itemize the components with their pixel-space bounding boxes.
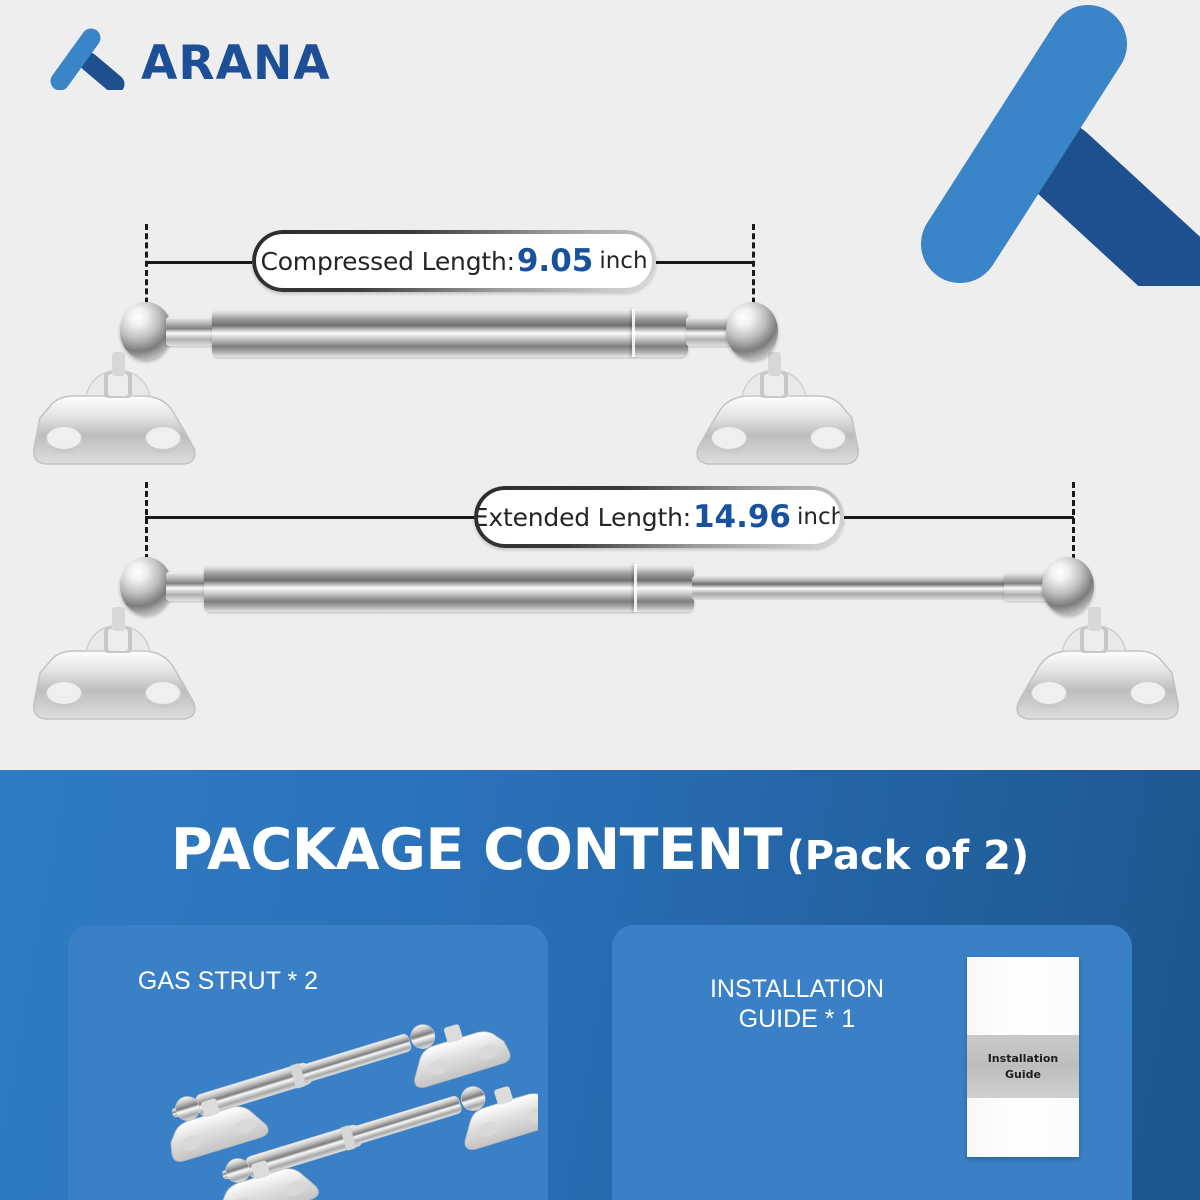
package-card-gas-strut: GAS STRUT * 2 [68,925,548,1200]
extended-length-label: Extended Length: [473,503,691,532]
compressed-length-unit: inch [595,248,647,274]
compressed-length-value: 9.05 [515,243,596,279]
package-content-section: PACKAGE CONTENT (Pack of 2) GAS STRUT * … [0,770,1200,1200]
package-content-title: PACKAGE CONTENT [171,817,782,883]
mounting-bracket-left-compressed [22,352,212,477]
booklet-title-band: Installation Guide [967,1035,1079,1098]
extended-length-badge: Extended Length: 14.96 inch [474,486,844,548]
ball-joint-left-compressed [120,302,172,360]
installation-guide-label: INSTALLATION GUIDE * 1 [652,975,942,1034]
cylinder-seam-compressed [632,309,635,357]
booklet-line-2: Guide [1005,1067,1041,1083]
logo-chevron-icon [45,28,131,90]
ball-joint-left-extended [120,557,172,615]
compressed-length-label: Compressed Length: [260,247,514,276]
mounting-bracket-right-extended [1000,607,1190,732]
rod-collar-left-compressed [166,317,216,346]
dimension-line-right-extended [840,516,1074,519]
ball-joint-right-extended [1042,557,1094,615]
dimension-line-right-compressed [640,261,754,264]
gas-strut-extended [0,545,1200,745]
brand-logo: ARANA [45,28,325,98]
cylinder-seam-extended [634,564,637,612]
gas-strut-compressed [0,290,900,490]
specs-section: ARANA Compressed Length: 9.05 inch [0,0,1200,770]
piston-rod-extended [692,576,1008,600]
package-content-heading: PACKAGE CONTENT (Pack of 2) [0,817,1200,883]
strut-cylinder-compressed [212,309,688,357]
brand-name: ARANA [141,36,331,91]
rod-collar-left-extended [166,572,206,601]
installation-guide-booklet: Installation Guide [967,957,1079,1157]
gas-strut-pair-illustration [98,947,538,1200]
dimension-line-left-extended [145,516,475,519]
ball-joint-right-compressed [726,302,778,360]
brand-watermark-chevron-icon [910,0,1200,286]
package-card-installation-guide: INSTALLATION GUIDE * 1 Installation Guid… [612,925,1132,1200]
booklet-line-1: Installation [988,1051,1059,1067]
extended-length-unit: inch [793,504,845,530]
mounting-bracket-right-compressed [680,352,870,477]
product-infographic: ARANA Compressed Length: 9.05 inch [0,0,1200,1200]
package-content-subtitle: (Pack of 2) [787,833,1030,879]
strut-cylinder-extended [204,564,694,612]
mounting-bracket-left-extended [22,607,212,732]
extended-length-value: 14.96 [691,499,793,535]
compressed-length-badge: Compressed Length: 9.05 inch [252,230,656,292]
